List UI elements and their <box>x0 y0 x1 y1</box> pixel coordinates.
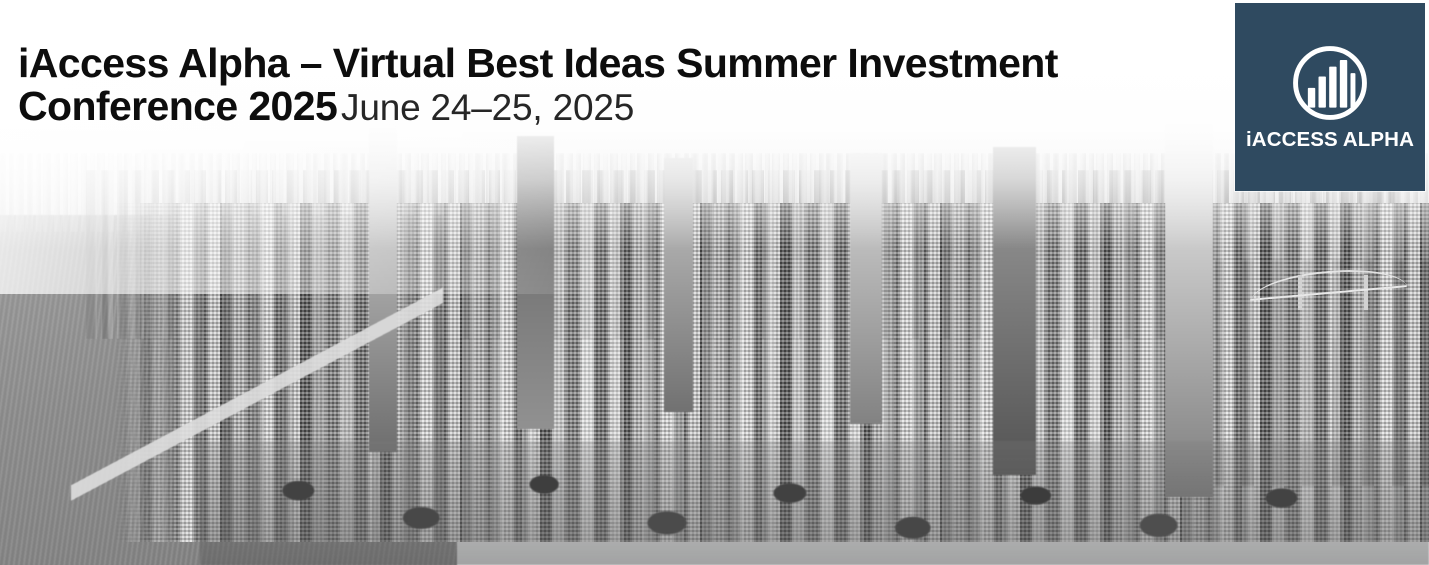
conference-banner: iAccess Alpha – Virtual Best Ideas Summe… <box>0 0 1429 565</box>
distant-skyline <box>0 153 1429 232</box>
bridge-pier <box>1298 275 1302 311</box>
skyscraper-center-tower <box>993 147 1036 475</box>
conference-dates: June 24–25, 2025 <box>341 87 634 128</box>
bridge-cable <box>1250 264 1409 302</box>
skyscraper-mid-tower <box>664 158 693 412</box>
skyscraper-light-tower <box>850 153 881 424</box>
east-river-water <box>1215 260 1429 486</box>
suspension-bridge <box>1250 266 1407 317</box>
skyscraper-right-tower <box>1165 124 1214 497</box>
banner-headline: iAccess Alpha – Virtual Best Ideas Summe… <box>18 42 1158 127</box>
skyscraper-one-wtc <box>369 113 398 452</box>
midground-skyline <box>86 170 1401 340</box>
foreground-towers <box>114 203 1429 542</box>
battery-park-shoreline <box>71 249 443 565</box>
horizon-haze <box>0 0 1429 260</box>
skyscraper-dark-tower <box>517 136 554 430</box>
bridge-pier <box>1364 275 1368 311</box>
bridge-deck <box>1251 285 1408 301</box>
logo-wordmark: iACCESS ALPHA <box>1246 128 1414 152</box>
bar-chart-circle-icon <box>1289 42 1371 124</box>
hudson-river-water <box>0 215 457 565</box>
park-tree-canopy <box>200 441 1429 565</box>
iaccess-alpha-logo[interactable]: iACCESS ALPHA <box>1235 3 1425 191</box>
